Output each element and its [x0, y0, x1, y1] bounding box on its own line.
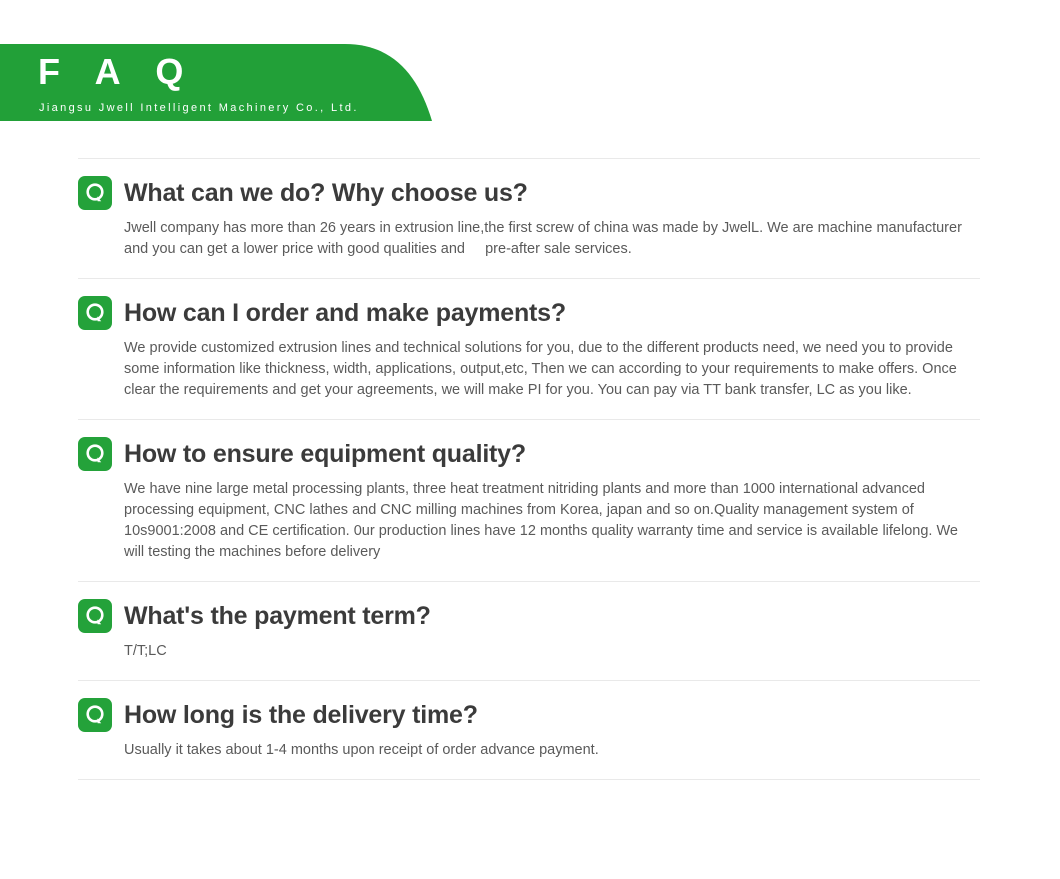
faq-question-row[interactable]: What's the payment term?	[78, 582, 980, 635]
banner-shape	[0, 44, 440, 121]
faq-answer-text: Usually it takes about 1-4 months upon r…	[124, 734, 972, 779]
question-mark-icon	[78, 296, 112, 330]
faq-question-text: What can we do? Why choose us?	[124, 177, 528, 209]
faq-answer-text: Jwell company has more than 26 years in …	[124, 212, 972, 278]
faq-item: How can I order and make payments? We pr…	[78, 278, 980, 419]
faq-question-row[interactable]: What can we do? Why choose us?	[78, 159, 980, 212]
faq-answer-text: We have nine large metal processing plan…	[124, 473, 980, 581]
faq-question-text: What's the payment term?	[124, 600, 431, 632]
faq-question-text: How to ensure equipment quality?	[124, 438, 526, 470]
question-mark-icon	[78, 599, 112, 633]
faq-list: What can we do? Why choose us? Jwell com…	[78, 158, 980, 780]
question-mark-icon	[78, 437, 112, 471]
question-mark-icon	[78, 698, 112, 732]
page-header-banner: F A Q Jiangsu Jwell Intelligent Machiner…	[0, 44, 440, 121]
faq-item: What's the payment term? T/T;LC	[78, 581, 980, 680]
faq-item: How to ensure equipment quality? We have…	[78, 419, 980, 581]
faq-question-row[interactable]: How to ensure equipment quality?	[78, 420, 980, 473]
faq-question-row[interactable]: How can I order and make payments?	[78, 279, 980, 332]
faq-question-text: How long is the delivery time?	[124, 699, 478, 731]
faq-answer-text: We provide customized extrusion lines an…	[124, 332, 980, 419]
faq-item: How long is the delivery time? Usually i…	[78, 680, 980, 780]
faq-item: What can we do? Why choose us? Jwell com…	[78, 158, 980, 278]
faq-question-text: How can I order and make payments?	[124, 297, 566, 329]
faq-question-row[interactable]: How long is the delivery time?	[78, 681, 980, 734]
faq-answer-text: T/T;LC	[124, 635, 972, 680]
question-mark-icon	[78, 176, 112, 210]
